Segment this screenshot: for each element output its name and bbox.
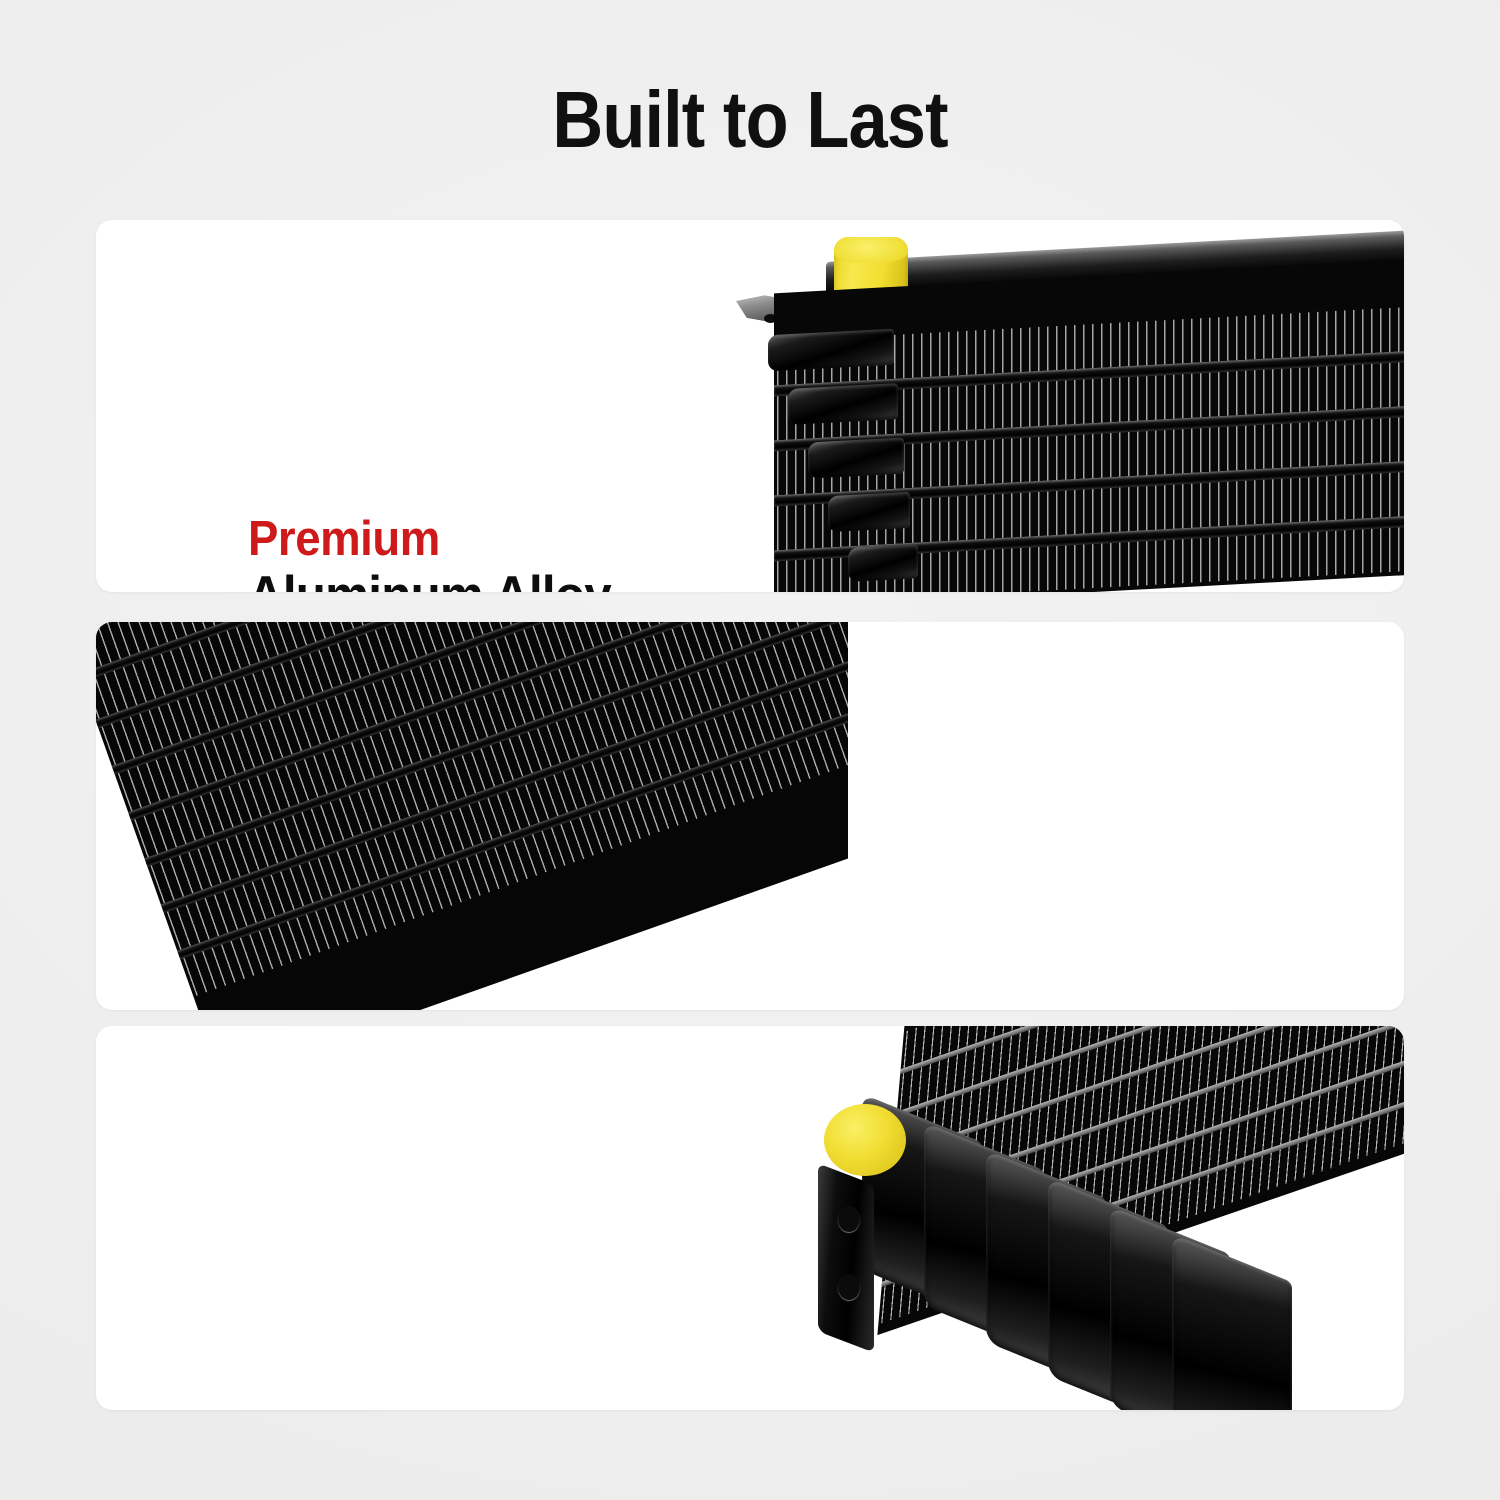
card-eyebrow: Premium	[248, 512, 806, 566]
feature-card-premium-aluminum-alloy: Premium Aluminum Alloy High-Strength, Ro…	[96, 220, 1404, 592]
product-image-heat-dissipation	[96, 622, 848, 1010]
yellow-protective-cap	[824, 1104, 906, 1176]
fin-closeup	[96, 622, 848, 1010]
end-tank-lobe	[768, 329, 894, 372]
cooler-row	[1172, 1234, 1292, 1410]
bracket-hole	[838, 1206, 860, 1232]
bracket-hole	[838, 1274, 860, 1300]
card-text-block-premium: Premium Aluminum Alloy High-Strength, Ro…	[248, 512, 848, 592]
feature-card-wide-compatibility: Wide Compatibility Suitable for most car…	[96, 1026, 1404, 1410]
end-tank-lobe	[848, 544, 918, 582]
page-title: Built to Last	[90, 72, 1410, 168]
product-image-compatibility	[796, 1026, 1404, 1410]
card-headline: Aluminum Alloy	[248, 566, 806, 592]
end-tank-lobe	[808, 437, 904, 478]
feature-card-efficient-heat-dissipation: Efficient Heat Dissipation Reduce the oi…	[96, 622, 1404, 1010]
cooler-core	[774, 259, 1404, 592]
end-tank-lobe	[788, 383, 898, 425]
infographic-page: Built to Last	[0, 0, 1500, 1500]
mounting-bracket	[818, 1163, 874, 1352]
